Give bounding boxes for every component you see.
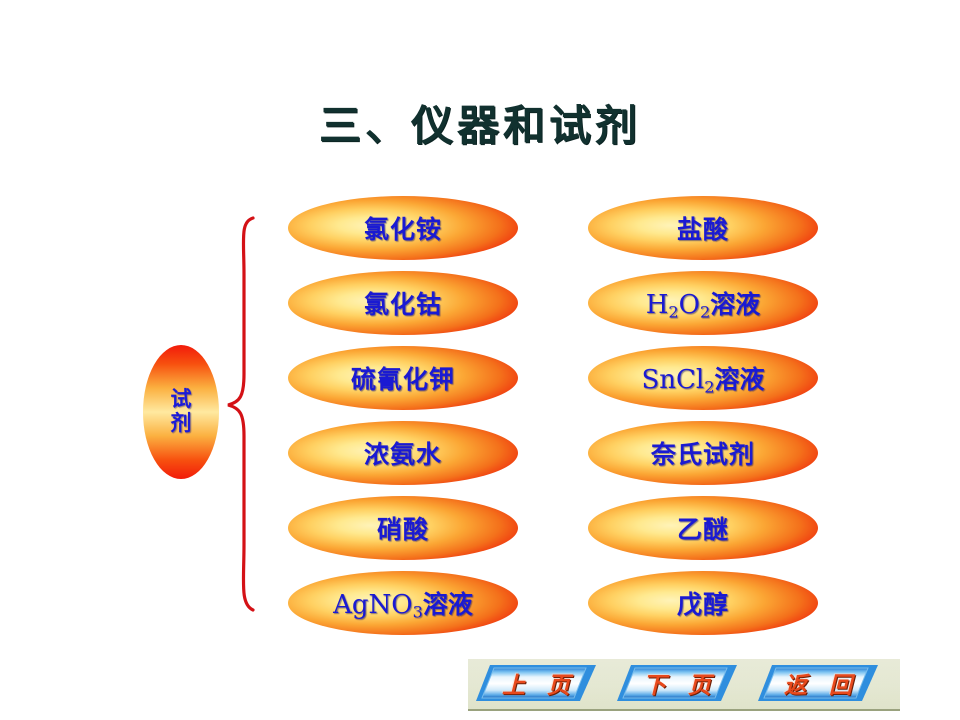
reagent-column-left: 氯化铵 氯化钴 硫氰化钾 浓氨水 硝酸 AgNO3溶液 <box>288 196 518 646</box>
reagent-pill-label: 硫氰化钾 <box>351 360 455 396</box>
reagent-pill-label: 乙醚 <box>677 510 729 546</box>
reagent-pill-label: 浓氨水 <box>364 435 442 471</box>
reagent-pill[interactable]: 氯化铵 <box>288 196 518 260</box>
reagent-pill-label: 硝酸 <box>377 510 429 546</box>
reagent-group-label: 试 剂 <box>143 345 219 479</box>
reagent-column-right: 盐酸 H2O2溶液 SnCl2溶液 奈氏试剂 乙醚 戊醇 <box>588 196 818 646</box>
return-button-shape <box>756 663 880 703</box>
return-button[interactable]: 返 回 <box>756 663 880 703</box>
formula-latin: SnCl <box>641 365 704 395</box>
reagent-pill[interactable]: 硫氰化钾 <box>288 346 518 410</box>
formula-suffix: 溶液 <box>710 290 760 319</box>
formula-suffix: 溶液 <box>423 590 473 619</box>
formula-suffix: 溶液 <box>715 365 765 394</box>
prev-page-button[interactable]: 上 页 <box>474 663 598 703</box>
reagent-pill[interactable]: H2O2溶液 <box>588 271 818 335</box>
reagent-pill-label: 盐酸 <box>677 210 729 246</box>
formula-latin: H <box>646 290 669 320</box>
formula-subscript-2: 2 <box>700 302 710 321</box>
next-page-button-shape <box>615 663 739 703</box>
navigation-bar: 上 页 下 页 <box>468 659 900 711</box>
reagent-pill[interactable]: 硝酸 <box>288 496 518 560</box>
prev-page-button-shape <box>474 663 598 703</box>
reagent-pill[interactable]: 浓氨水 <box>288 421 518 485</box>
formula-latin: AgNO <box>333 590 413 620</box>
reagent-pill[interactable]: AgNO3溶液 <box>288 571 518 635</box>
formula-latin-2: O <box>679 290 700 320</box>
reagent-pill-label: SnCl2溶液 <box>641 360 764 397</box>
reagent-pill-label: 奈氏试剂 <box>651 435 755 471</box>
reagent-pill-label: AgNO3溶液 <box>333 585 473 622</box>
reagent-pill[interactable]: 奈氏试剂 <box>588 421 818 485</box>
reagent-pill[interactable]: 乙醚 <box>588 496 818 560</box>
reagent-pill-label: H2O2溶液 <box>646 285 761 322</box>
formula-subscript: 2 <box>668 302 678 321</box>
reagent-pill[interactable]: 戊醇 <box>588 571 818 635</box>
red-curly-brace <box>222 214 262 614</box>
next-page-button[interactable]: 下 页 <box>615 663 739 703</box>
reagent-pill-label: 戊醇 <box>677 585 729 621</box>
formula-subscript: 3 <box>413 602 423 621</box>
reagent-pill[interactable]: SnCl2溶液 <box>588 346 818 410</box>
reagent-group-label-char2: 剂 <box>171 412 192 436</box>
reagent-pill-label: 氯化钴 <box>364 285 442 321</box>
slide-canvas: 三、仪器和试剂 试 剂 氯化铵 氯化钴 硫氰化钾 浓氨水 硝酸 AgNO3溶液 <box>0 0 960 720</box>
page-title: 三、仪器和试剂 <box>0 92 960 153</box>
reagent-pill-label: 氯化铵 <box>364 210 442 246</box>
reagent-pill[interactable]: 盐酸 <box>588 196 818 260</box>
reagent-pill[interactable]: 氯化钴 <box>288 271 518 335</box>
reagent-group-label-char1: 试 <box>171 388 192 412</box>
formula-subscript: 2 <box>704 377 714 396</box>
